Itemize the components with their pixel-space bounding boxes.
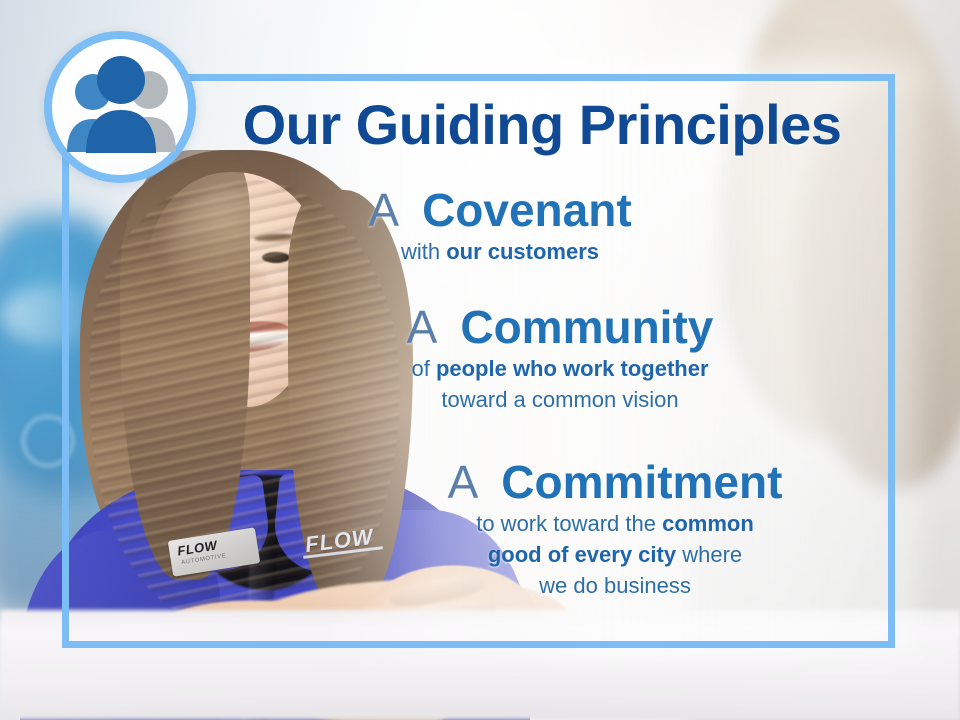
plain-text: with [401, 239, 446, 264]
principle-subtext-line: toward a common vision [300, 384, 820, 415]
principle-subtext-line: to work toward the common [350, 508, 880, 539]
principle-keyword: Commitment [501, 456, 782, 508]
principle-subtext-line: good of every city where [350, 539, 880, 570]
principle-article: A [407, 301, 435, 353]
principle-block-covenant: A Covenant with our customers [270, 186, 730, 267]
principle-subtext: of people who work togethertoward a comm… [300, 353, 820, 415]
emphasis-text: our customers [446, 239, 599, 264]
principle-keyword: Community [460, 301, 713, 353]
principle-subtext-line: of people who work together [300, 353, 820, 384]
principle-subtext-line: we do business [350, 570, 880, 601]
plain-text: to work toward the [476, 511, 662, 536]
plain-text: we do business [539, 573, 691, 598]
emphasis-text: common [662, 511, 754, 536]
people-group-icon [62, 55, 180, 160]
plain-text: toward a common vision [441, 387, 678, 412]
principle-title: A Commitment [350, 458, 880, 508]
emphasis-text: good of every city [488, 542, 676, 567]
plain-text: of [411, 356, 435, 381]
principle-title: A Community [300, 303, 820, 353]
principle-article: A [448, 456, 476, 508]
white-table-surface [0, 610, 960, 720]
principle-block-commitment: A Commitment to work toward the commongo… [350, 458, 880, 601]
principle-subtext-line: with our customers [270, 236, 730, 267]
principle-title: A Covenant [270, 186, 730, 236]
principle-subtext: to work toward the commongood of every c… [350, 508, 880, 602]
principle-article: A [368, 184, 396, 236]
plain-text: where [676, 542, 742, 567]
principle-block-community: A Community of people who work togethert… [300, 303, 820, 415]
page-title: Our Guiding Principles [212, 97, 872, 153]
guiding-principles-poster: FLOW AUTOMOTIVE FLOW [0, 0, 960, 720]
emphasis-text: people who work together [436, 356, 709, 381]
principle-keyword: Covenant [422, 184, 632, 236]
principle-subtext: with our customers [270, 236, 730, 267]
